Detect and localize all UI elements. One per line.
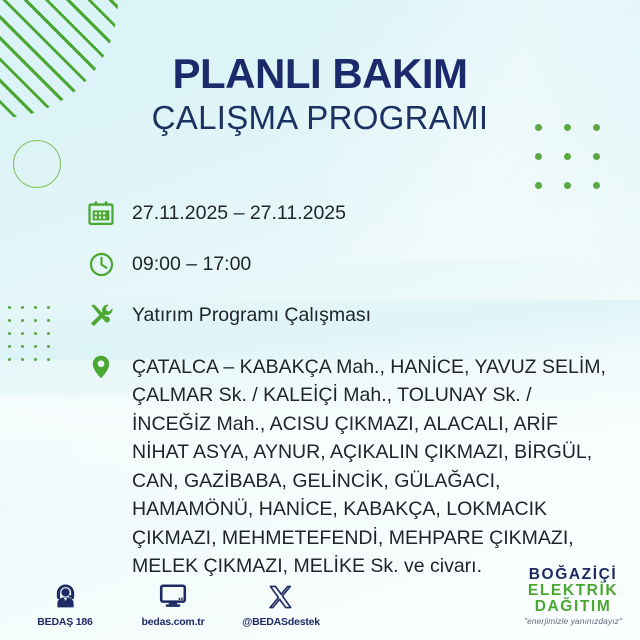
logo-tagline: "enerjimizle yanınızdayız" (524, 617, 622, 626)
poster-footer: BEDAŞ 186 bedas.com.tr (0, 564, 640, 630)
planned-maintenance-poster: PLANLI BAKIM ÇALIŞMA PROGRAMI (0, 0, 640, 640)
calendar-icon (86, 198, 116, 228)
map-pin-icon (86, 351, 116, 381)
company-logo: BOĞAZİÇİ ELEKTRİK DAĞITIM "enerjimizle y… (524, 567, 622, 626)
poster-header: PLANLI BAKIM ÇALIŞMA PROGRAMI (0, 52, 640, 136)
contact-phone-label: BEDAŞ 186 (24, 616, 106, 628)
info-list: 27.11.2025 – 27.11.2025 09:00 – 17:00 (86, 198, 614, 581)
logo-line-3: DAĞITIM (524, 599, 622, 615)
contact-website[interactable]: bedas.com.tr (132, 580, 214, 628)
logo-line-2: ELEKTRİK (524, 583, 622, 599)
support-agent-icon (24, 580, 106, 610)
time-range-value: 09:00 – 17:00 (132, 249, 251, 279)
info-row-time: 09:00 – 17:00 (86, 249, 614, 279)
clock-icon (86, 249, 116, 279)
page-title: PLANLI BAKIM (0, 52, 640, 96)
work-type-value: Yatırım Programı Çalışması (132, 300, 371, 330)
logo-line-1: BOĞAZİÇİ (524, 567, 622, 583)
contact-list: BEDAŞ 186 bedas.com.tr (24, 580, 322, 628)
x-twitter-icon (240, 580, 322, 610)
address-value: ÇATALCA – KABAKÇA Mah., HANİCE, YAVUZ SE… (132, 351, 614, 581)
info-row-address: ÇATALCA – KABAKÇA Mah., HANİCE, YAVUZ SE… (86, 351, 614, 581)
circle-outline-decoration (13, 140, 61, 188)
monitor-icon (132, 580, 214, 610)
date-range-value: 27.11.2025 – 27.11.2025 (132, 198, 346, 228)
info-row-work-type: Yatırım Programı Çalışması (86, 300, 614, 330)
contact-phone[interactable]: BEDAŞ 186 (24, 580, 106, 628)
tools-icon (86, 300, 116, 330)
contact-twitter[interactable]: @BEDASdestek (240, 580, 322, 628)
dot-grid-left-decoration (8, 306, 60, 371)
contact-twitter-label: @BEDASdestek (240, 616, 322, 628)
info-row-date: 27.11.2025 – 27.11.2025 (86, 198, 614, 228)
contact-website-label: bedas.com.tr (132, 616, 214, 628)
page-subtitle: ÇALIŞMA PROGRAMI (0, 100, 640, 136)
